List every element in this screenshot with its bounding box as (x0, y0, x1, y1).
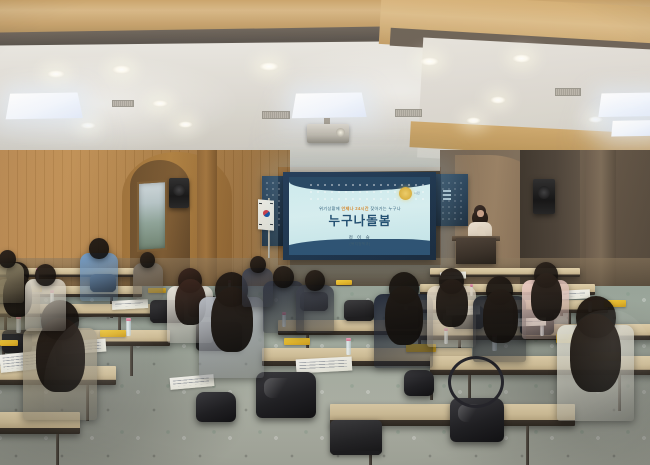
flag-trigram-icon (259, 224, 262, 225)
attendee-navy-suit-hair (385, 286, 423, 345)
handout-paper (296, 357, 353, 374)
attendee-left-cream-top-torso (25, 279, 66, 331)
front-left-hair-sheen (44, 316, 164, 465)
flag-trigram-icon (259, 203, 262, 204)
panel-light-left (6, 93, 83, 120)
panel-light-right (598, 92, 650, 117)
downlight-3 (80, 122, 96, 129)
projector-lens-icon (336, 128, 345, 137)
vent-right (395, 109, 422, 117)
taeguk-icon (263, 210, 270, 218)
speaker-cone-icon (173, 184, 185, 196)
floor-bag-aisle (404, 370, 434, 396)
slide-title: 누구나돌봄 (299, 215, 421, 228)
downlight-10 (466, 117, 481, 124)
vent-left (112, 100, 134, 107)
document-folder (0, 340, 18, 346)
attendee-blue-shirt-head (89, 238, 109, 259)
attendee-right-dark-top-hair (483, 289, 518, 343)
document-folder (336, 280, 352, 285)
panel-light-far-right (611, 120, 650, 136)
downlight-4 (152, 100, 168, 107)
vent-center (262, 111, 290, 119)
downlight-1 (47, 70, 65, 78)
attendee-left-cream-top-head (35, 264, 56, 286)
attendee-mid-dark-2-torso (296, 285, 334, 333)
desk-leg (526, 426, 529, 465)
document-folder (284, 338, 310, 345)
presenter-face (477, 210, 484, 217)
side-banner-right-pattern (440, 180, 464, 220)
chair-seat (332, 451, 380, 455)
projection-screen: 시민 위기상황에 언제나 24시간 찾아가는 누구나 누구나돌봄 정 이 슬 (… (283, 172, 436, 260)
attendee-mid-dark-1-head (273, 266, 294, 288)
side-banner-right-mark (443, 190, 451, 200)
downlight-6 (259, 62, 279, 71)
handbag-strap (448, 356, 504, 408)
downlight-2 (112, 65, 131, 74)
flag-trigram-icon (270, 224, 273, 225)
downlight-7 (420, 57, 439, 66)
window-frame (137, 180, 167, 252)
chair-front-center (330, 420, 382, 454)
backpack-highlight (264, 378, 294, 398)
front-right-hair-sheen (556, 310, 650, 465)
attendee-back-right-far-head (250, 256, 266, 273)
downlight-9 (490, 96, 506, 104)
attendee-back-center-far-head (140, 252, 155, 268)
attendee-back-left-far-head (0, 250, 16, 268)
attendee-back-right-far-torso (242, 268, 273, 307)
floor-bag (196, 392, 236, 422)
slide-presenter-name: 정 이 슬 (299, 235, 421, 241)
bottle-cap (346, 338, 351, 341)
flag-trigram-icon (270, 203, 273, 204)
downlight-8 (512, 54, 531, 63)
downlight-5 (178, 121, 193, 128)
presentation-slide: 시민 위기상황에 언제나 24시간 찾아가는 누구나 누구나돌봄 정 이 슬 (… (289, 177, 430, 255)
slide-subtitle-tail: 찾아가는 누구나 (369, 206, 401, 211)
chair-seat (346, 317, 372, 321)
downlight-11 (588, 116, 603, 123)
handout-paper (112, 299, 148, 310)
speaker-cone-icon (538, 186, 550, 199)
vent-far (555, 88, 581, 96)
slide-subtitle: 위기상황에 언제나 24시간 찾아가는 누구나 (299, 206, 421, 211)
slide-presenter-org: (복지정책과) (299, 242, 421, 247)
handout-text-lines (115, 302, 143, 306)
attendee-cream-cardigan-hair (436, 279, 468, 327)
handout-text-lines (173, 378, 209, 387)
podium (456, 238, 496, 264)
handout-text-lines (299, 360, 347, 371)
attendee-mid-dark-2-head (305, 270, 325, 291)
panel-light-center (292, 92, 367, 118)
slide-subtitle-lead: 위기상황에 (319, 206, 341, 211)
attendee-right-pink-top-hair (531, 273, 562, 321)
water-bottle (346, 340, 351, 355)
photo-scene: 시민 위기상황에 언제나 24시간 찾아가는 누구나 누구나돌봄 정 이 슬 (… (0, 0, 650, 465)
slide-logo-caption: 시민 (414, 191, 428, 195)
attendee-back-center-far-torso (133, 263, 163, 300)
attendee-blue-shirt-torso (80, 253, 118, 301)
attendee-back-left-far-torso (0, 263, 24, 303)
gold-seal-logo (399, 187, 412, 200)
slide-subtitle-highlight: 언제나 24시간 (341, 206, 368, 211)
